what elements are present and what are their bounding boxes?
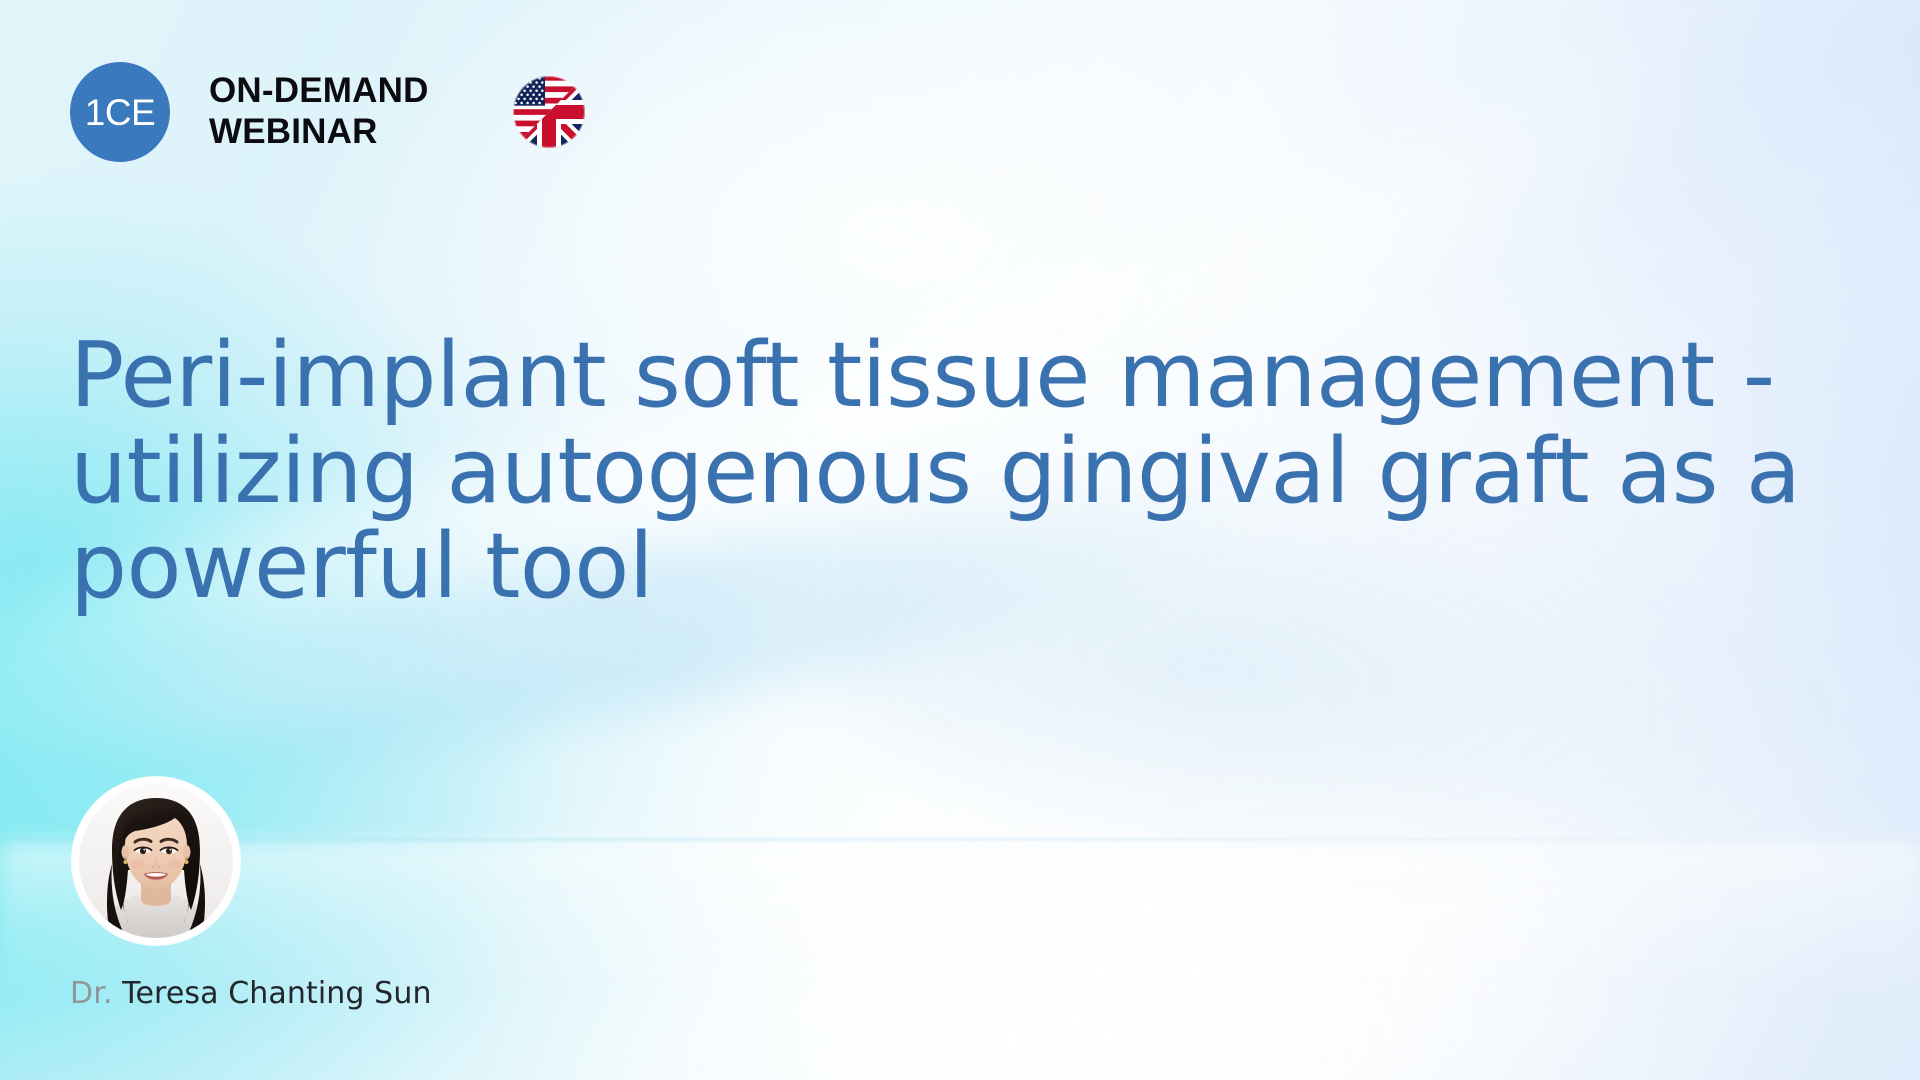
ce-credit-badge: 1CE xyxy=(70,62,170,162)
speaker-honorific: Dr. xyxy=(70,976,113,1011)
avatar xyxy=(72,777,240,945)
us-uk-flag-icon xyxy=(512,75,586,149)
speaker-name: Dr. Teresa Chanting Sun xyxy=(70,977,432,1010)
background-horizon-line xyxy=(0,838,1920,841)
webinar-title-slide: 1CE ON-DEMAND WEBINAR xyxy=(0,0,1920,1080)
header: 1CE ON-DEMAND WEBINAR xyxy=(70,62,586,162)
ce-credit-badge-label: 1CE xyxy=(85,94,155,131)
speaker-name-text: Teresa Chanting Sun xyxy=(122,976,431,1011)
speaker-portrait xyxy=(79,784,233,938)
header-label: ON-DEMAND WEBINAR xyxy=(209,71,429,152)
page-title: Peri-implant soft tissue management - ut… xyxy=(70,328,1890,614)
